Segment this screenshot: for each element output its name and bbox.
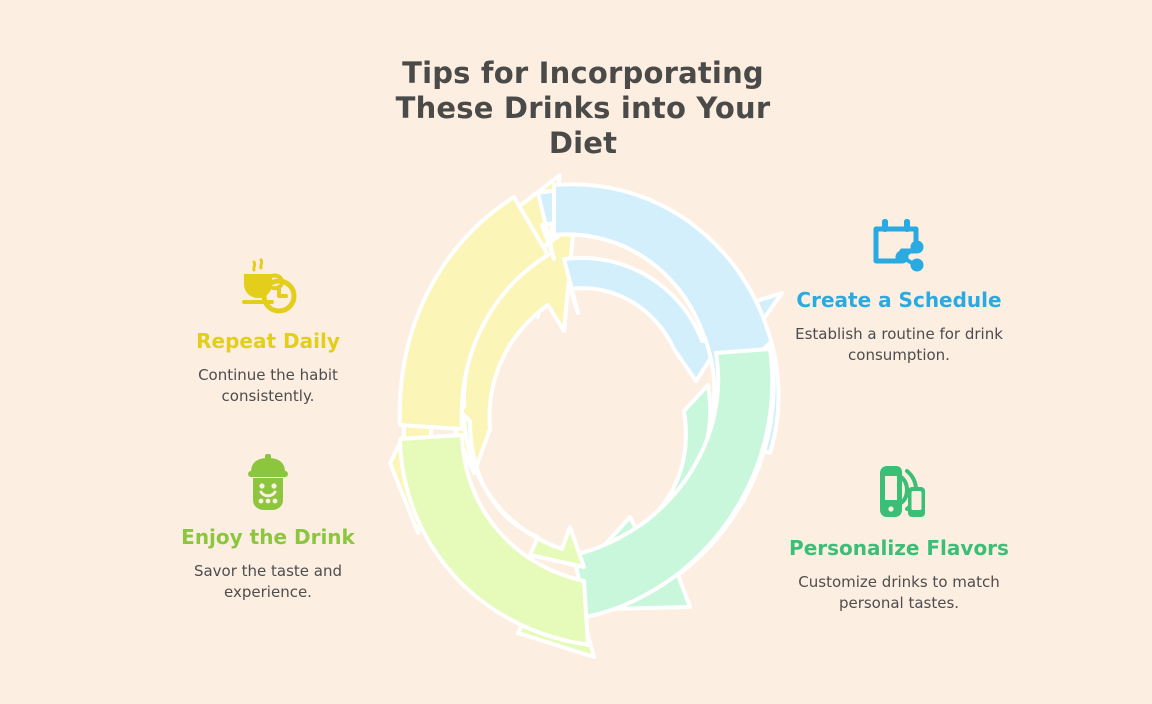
- item-title-repeat-daily: Repeat Daily: [153, 328, 383, 355]
- item-description-enjoy-the-drink: Savor the taste and experience.: [153, 561, 383, 603]
- cycle-diagram: [378, 163, 790, 665]
- page-title: Tips for Incorporating These Drinks into…: [376, 56, 790, 161]
- smartphone-wireless-icon: [868, 463, 930, 525]
- item-repeat-daily: Repeat Daily Continue the habit consiste…: [153, 256, 383, 407]
- item-description-repeat-daily: Continue the habit consistently.: [153, 365, 383, 407]
- infographic-canvas: Tips for Incorporating These Drinks into…: [0, 0, 1152, 704]
- calendar-share-icon: [868, 215, 930, 277]
- item-description-create-a-schedule: Establish a routine for drink consumptio…: [784, 324, 1014, 366]
- item-title-personalize-flavors: Personalize Flavors: [784, 535, 1014, 562]
- item-title-enjoy-the-drink: Enjoy the Drink: [153, 524, 383, 551]
- bubble-tea-cup-icon: [237, 452, 299, 514]
- item-title-create-a-schedule: Create a Schedule: [784, 287, 1014, 314]
- item-personalize-flavors: Personalize Flavors Customize drinks to …: [784, 463, 1014, 614]
- item-enjoy-the-drink: Enjoy the Drink Savor the taste and expe…: [153, 452, 383, 603]
- item-create-a-schedule: Create a Schedule Establish a routine fo…: [784, 215, 1014, 366]
- item-description-personalize-flavors: Customize drinks to match personal taste…: [784, 572, 1014, 614]
- cycle-center-hole: [512, 352, 656, 476]
- coffee-cup-clock-icon: [237, 256, 299, 318]
